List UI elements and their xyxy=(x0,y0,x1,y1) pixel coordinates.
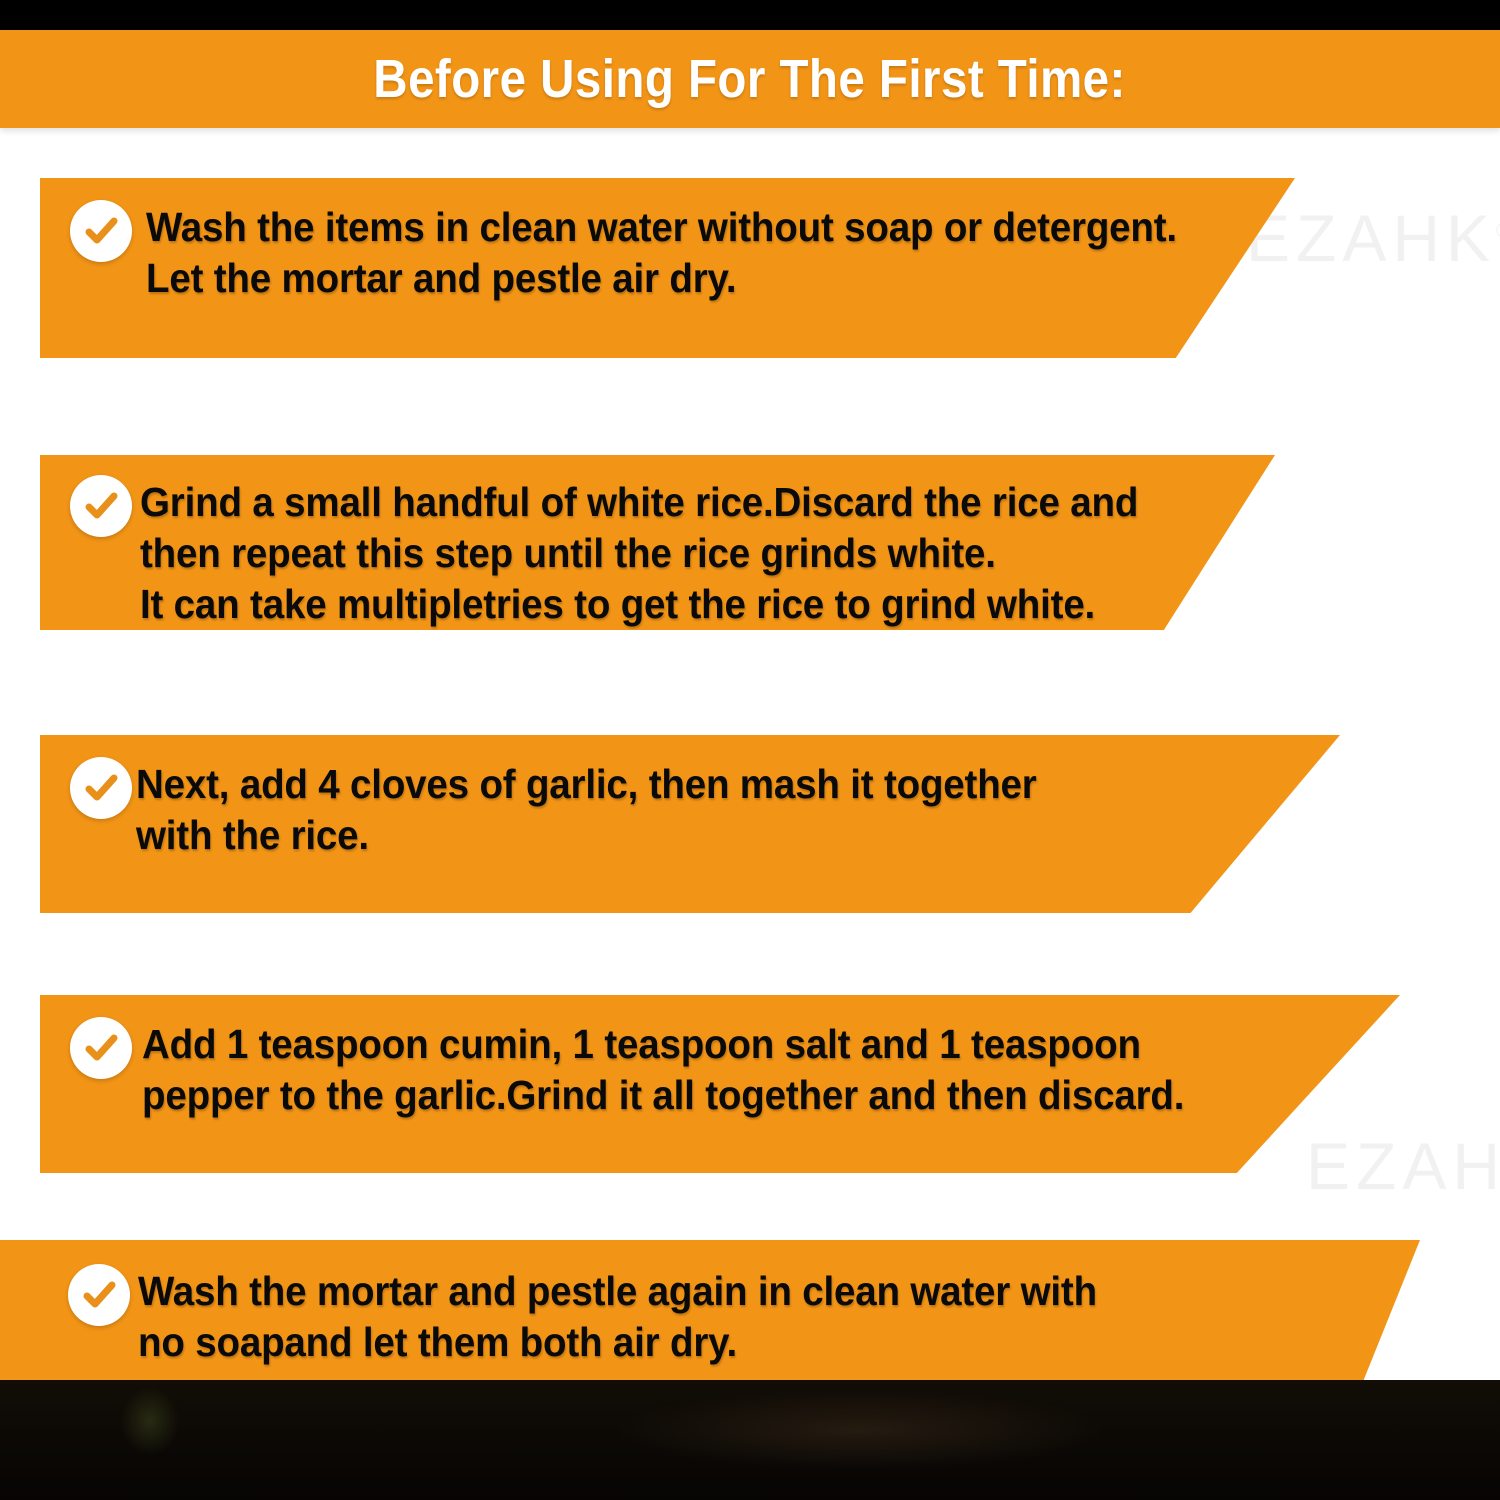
check-circle-icon xyxy=(68,1264,130,1326)
step-text: Wash the mortar and pestle again in clea… xyxy=(138,1266,1097,1368)
steps-list: Wash the items in clean water without so… xyxy=(0,0,1500,1500)
check-circle-icon xyxy=(70,200,132,262)
bottom-dark-region xyxy=(0,1380,1500,1500)
step-banner-2: Grind a small handful of white rice.Disc… xyxy=(40,455,1275,630)
step-content: Grind a small handful of white rice.Disc… xyxy=(70,475,1202,630)
step-content: Wash the mortar and pestle again in clea… xyxy=(68,1264,1158,1368)
step-banner-1: Wash the items in clean water without so… xyxy=(40,178,1295,358)
check-circle-icon xyxy=(70,757,132,819)
check-circle-icon xyxy=(70,475,132,537)
step-banner-3: Next, add 4 cloves of garlic, then mash … xyxy=(40,735,1340,913)
infographic-page: Before Using For The First Time: EZAHK® … xyxy=(0,0,1500,1500)
step-text: Grind a small handful of white rice.Disc… xyxy=(140,477,1138,630)
step-content: Add 1 teaspoon cumin, 1 teaspoon salt an… xyxy=(70,1017,1251,1121)
step-text: Add 1 teaspoon cumin, 1 teaspoon salt an… xyxy=(142,1019,1184,1121)
check-circle-icon xyxy=(70,1017,132,1079)
step-banner-4: Add 1 teaspoon cumin, 1 teaspoon salt an… xyxy=(40,995,1400,1173)
step-text: Wash the items in clean water without so… xyxy=(146,202,1177,304)
step-content: Next, add 4 cloves of garlic, then mash … xyxy=(70,757,1094,861)
step-content: Wash the items in clean water without so… xyxy=(70,200,1243,304)
step-text: Next, add 4 cloves of garlic, then mash … xyxy=(136,759,1037,861)
